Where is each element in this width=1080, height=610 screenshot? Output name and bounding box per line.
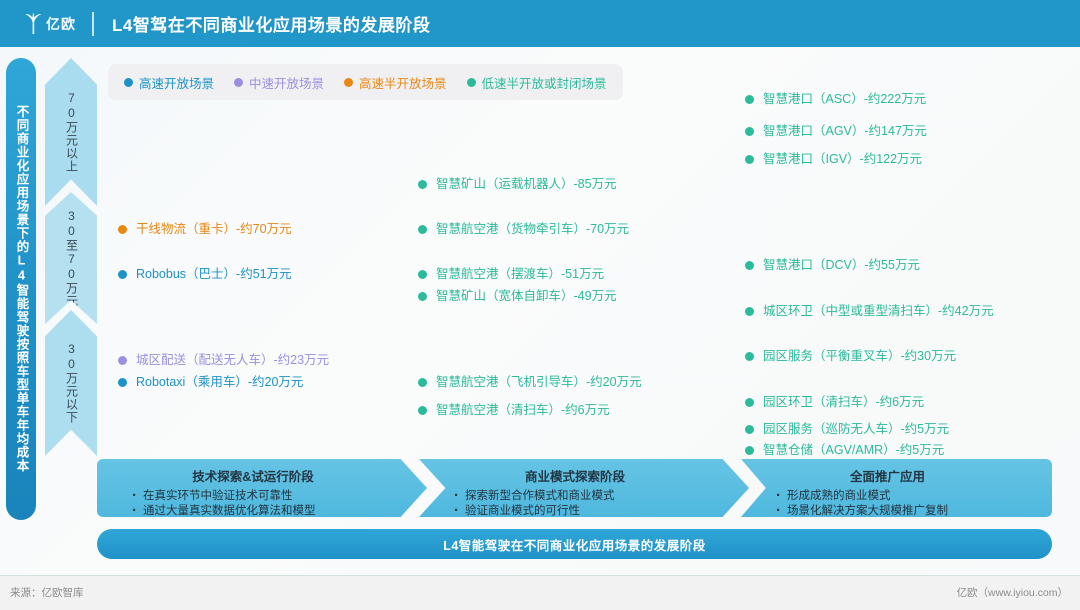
data-point-label: 智慧航空港（清扫车）-约6万元 [436,403,610,417]
data-point[interactable]: 智慧港口（IGV）-约122万元 [745,152,922,166]
data-point-dot-icon [745,446,754,455]
legend-label: 低速半开放或封闭场景 [482,73,607,92]
data-point-label: Robobus（巴士）-约51万元 [136,267,292,281]
data-point-label: 智慧航空港（货物牵引车）-70万元 [436,222,629,236]
data-point[interactable]: 智慧矿山（运载机器人）-85万元 [418,177,617,191]
data-point-dot-icon [745,425,754,434]
page-title: L4智驾在不同商业化应用场景的发展阶段 [112,11,430,36]
data-point-label: 干线物流（重卡）-约70万元 [136,222,292,236]
price-tier-axis: 70万元以上 30至70万元 30万元以下 [45,58,97,456]
data-point-label: 智慧航空港（摆渡车）-51万元 [436,267,604,281]
data-point[interactable]: 智慧港口（AGV）-约147万元 [745,124,927,138]
stage-chevron-2[interactable]: 商业模式探索阶段 探索新型合作模式和商业模式 验证商业模式的可行性 [419,459,749,517]
data-point[interactable]: 园区环卫（清扫车）-约6万元 [745,395,924,409]
data-point-dot-icon [745,307,754,316]
data-point-dot-icon [418,292,427,301]
data-point[interactable]: 干线物流（重卡）-约70万元 [118,222,292,236]
data-point-label: 城区环卫（中型或重型清扫车）-约42万元 [763,304,994,318]
legend-label: 高速半开放场景 [359,73,447,92]
legend-item[interactable]: 低速半开放或封闭场景 [467,73,607,92]
stage-bullet-list: 探索新型合作模式和商业模式 验证商业模式的可行性 [453,489,749,519]
legend-dot-icon [467,78,476,87]
legend-dot-icon [234,78,243,87]
data-point-dot-icon [745,352,754,361]
price-tier-mid: 30至70万元 [45,192,97,324]
brand-logo: 亿欧 [22,11,76,37]
stage-bullet-list: 形成成熟的商业模式 场景化解决方案大规模推广复制 [775,489,1052,519]
logo-text: 亿欧 [46,14,76,34]
data-point-dot-icon [418,406,427,415]
data-point-dot-icon [118,378,127,387]
infographic-root: 亿欧 L4智驾在不同商业化应用场景的发展阶段 不同商业化应用场景下的L4智能驾驶… [0,0,1080,609]
data-point-label: 智慧港口（DCV）-约55万元 [763,258,920,272]
data-point-dot-icon [118,356,127,365]
price-tier-low: 30万元以下 [45,310,97,456]
data-point-dot-icon [118,225,127,234]
legend-item[interactable]: 高速半开放场景 [344,73,447,92]
data-point-label: 园区服务（平衡重叉车）-约30万元 [763,349,956,363]
data-point[interactable]: 园区服务（平衡重叉车）-约30万元 [745,349,956,363]
legend-item[interactable]: 中速开放场景 [234,73,324,92]
data-point-dot-icon [418,225,427,234]
data-point-dot-icon [418,378,427,387]
vertical-axis-label: 不同商业化应用场景下的L4智能驾驶按照车型单车年均成本 [6,58,36,520]
data-point-dot-icon [745,155,754,164]
data-point[interactable]: 城区配送（配送无人车）-约23万元 [118,353,329,367]
stage-title: 技术探索&试运行阶段 [97,459,409,485]
data-point-label: 智慧港口（IGV）-约122万元 [763,152,922,166]
data-point-label: 园区环卫（清扫车）-约6万元 [763,395,924,409]
legend-dot-icon [124,78,133,87]
data-point-dot-icon [118,270,127,279]
data-point-dot-icon [745,127,754,136]
data-point[interactable]: 智慧航空港（摆渡车）-51万元 [418,267,604,281]
legend: 高速开放场景 中速开放场景 高速半开放场景 低速半开放或封闭场景 [108,64,623,100]
data-point[interactable]: 智慧矿山（宽体自卸车）-49万元 [418,289,617,303]
stage-bullet-list: 在真实环节中验证技术可靠性 通过大量真实数据优化算法和模型 [131,489,427,519]
stage-timeline: 技术探索&试运行阶段 在真实环节中验证技术可靠性 通过大量真实数据优化算法和模型… [97,459,1052,517]
stage-bullet: 场景化解决方案大规模推广复制 [775,504,1052,519]
data-point-label: 智慧矿山（运载机器人）-85万元 [436,177,617,191]
stage-chevron-3[interactable]: 全面推广应用 形成成熟的商业模式 场景化解决方案大规模推广复制 [741,459,1052,517]
data-point-dot-icon [745,95,754,104]
footer-source: 来源：亿欧智库 [10,585,84,600]
data-point-label: 智慧港口（ASC）-约222万元 [763,92,926,106]
stage-bullet: 探索新型合作模式和商业模式 [453,489,749,504]
data-point[interactable]: Robobus（巴士）-约51万元 [118,267,292,281]
data-point-label: 智慧仓储（AGV/AMR）-约5万元 [763,443,944,457]
data-point[interactable]: 智慧港口（DCV）-约55万元 [745,258,920,272]
legend-label: 中速开放场景 [249,73,324,92]
data-point[interactable]: Robotaxi（乘用车）-约20万元 [118,375,303,389]
data-point-label: 园区服务（巡防无人车）-约5万元 [763,422,949,436]
footer-bar: 来源：亿欧智库 亿欧（www.iyiou.com） [0,575,1080,610]
header-bar: 亿欧 L4智驾在不同商业化应用场景的发展阶段 [0,0,1080,47]
stage-bullet: 验证商业模式的可行性 [453,504,749,519]
data-point[interactable]: 智慧航空港（货物牵引车）-70万元 [418,222,629,236]
data-point-dot-icon [418,180,427,189]
price-tier-high: 70万元以上 [45,58,97,206]
data-point[interactable]: 园区服务（巡防无人车）-约5万元 [745,422,949,436]
stage-title: 全面推广应用 [741,459,1034,485]
stage-title: 商业模式探索阶段 [419,459,731,485]
data-point[interactable]: 城区环卫（中型或重型清扫车）-约42万元 [745,304,994,318]
data-point[interactable]: 智慧仓储（AGV/AMR）-约5万元 [745,443,944,457]
data-point-dot-icon [745,261,754,270]
data-point-label: 智慧港口（AGV）-约147万元 [763,124,927,138]
footer-site: 亿欧（www.iyiou.com） [957,585,1068,600]
data-point-label: Robotaxi（乘用车）-约20万元 [136,375,303,389]
data-point-label: 智慧矿山（宽体自卸车）-49万元 [436,289,617,303]
data-point-dot-icon [745,398,754,407]
bottom-banner: L4智能驾驶在不同商业化应用场景的发展阶段 [97,529,1052,559]
data-point[interactable]: 智慧航空港（清扫车）-约6万元 [418,403,610,417]
data-point[interactable]: 智慧航空港（飞机引导车）-约20万元 [418,375,642,389]
legend-dot-icon [344,78,353,87]
data-point-dot-icon [418,270,427,279]
data-point-label: 智慧航空港（飞机引导车）-约20万元 [436,375,642,389]
stage-bullet: 形成成熟的商业模式 [775,489,1052,504]
stage-bullet: 通过大量真实数据优化算法和模型 [131,504,427,519]
stage-bullet: 在真实环节中验证技术可靠性 [131,489,427,504]
header-divider [92,12,94,36]
data-point[interactable]: 智慧港口（ASC）-约222万元 [745,92,926,106]
legend-label: 高速开放场景 [139,73,214,92]
data-point-label: 城区配送（配送无人车）-约23万元 [136,353,329,367]
yiou-logo-icon [22,11,44,37]
legend-item[interactable]: 高速开放场景 [124,73,214,92]
stage-chevron-1[interactable]: 技术探索&试运行阶段 在真实环节中验证技术可靠性 通过大量真实数据优化算法和模型 [97,459,427,517]
